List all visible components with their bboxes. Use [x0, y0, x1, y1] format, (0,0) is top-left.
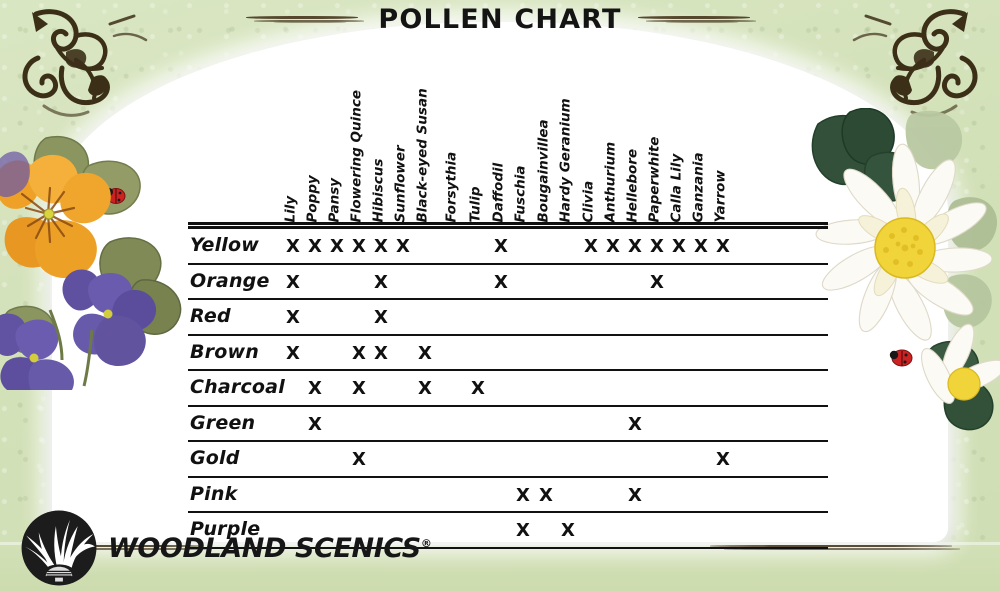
- column-header-fuschia: Fuschia: [515, 165, 529, 222]
- column-header-clivia: Clivia: [583, 180, 597, 222]
- column-header-calla-lily: Calla Lily: [671, 153, 685, 222]
- cell-mark-orange-lily: X: [286, 272, 300, 293]
- pollen-chart-table: LilyPoppyPansyFlowering QuinceHibiscusSu…: [188, 62, 828, 532]
- cell-mark-pink-bougainvillea: X: [539, 485, 553, 506]
- cell-mark-red-lily: X: [286, 307, 300, 328]
- row-label-pink: Pink: [190, 483, 237, 505]
- row-label-brown: Brown: [190, 341, 259, 363]
- column-header-row: LilyPoppyPansyFlowering QuinceHibiscusSu…: [188, 62, 828, 222]
- column-header-lily: Lily: [285, 195, 299, 222]
- row-label-orange: Orange: [190, 270, 270, 292]
- row-label-charcoal: Charcoal: [190, 376, 285, 398]
- cell-mark-red-hibiscus: X: [374, 307, 388, 328]
- row-divider: [188, 369, 828, 371]
- brand-name: WOODLAND SCENICS®: [108, 533, 431, 564]
- cell-mark-yellow-daffodil: X: [494, 236, 508, 257]
- cell-mark-pink-hellebore: X: [628, 485, 642, 506]
- cell-mark-charcoal-black-eyed-susan: X: [418, 378, 432, 399]
- brand-logo: WOODLAND SCENICS®: [20, 509, 431, 587]
- cell-mark-orange-paperwhite: X: [650, 272, 664, 293]
- brush-stroke-icon: [244, 15, 364, 24]
- cell-mark-yellow-hellebore: X: [628, 236, 642, 257]
- cell-mark-gold-yarrow: X: [716, 449, 730, 470]
- column-header-yarrow: Yarrow: [715, 170, 729, 222]
- row-label-yellow: Yellow: [190, 234, 259, 256]
- cell-mark-yellow-poppy: X: [308, 236, 322, 257]
- column-header-ganzania: Ganzania: [693, 152, 707, 222]
- row-divider: [188, 476, 828, 478]
- cell-mark-yellow-flowering-quince: X: [352, 236, 366, 257]
- cell-mark-charcoal-poppy: X: [308, 378, 322, 399]
- cell-mark-orange-hibiscus: X: [374, 272, 388, 293]
- cell-mark-yellow-ganzania: X: [694, 236, 708, 257]
- registered-mark: ®: [421, 537, 432, 550]
- column-header-bougainvillea: Bougainvillea: [538, 119, 552, 222]
- cell-mark-purple-hardy-geranium: X: [561, 520, 575, 541]
- column-header-poppy: Poppy: [307, 175, 321, 222]
- column-header-daffodil: Daffodil: [493, 162, 507, 222]
- cell-mark-purple-fuschia: X: [516, 520, 530, 541]
- brand-name-text: WOODLAND SCENICS: [108, 533, 421, 564]
- table-body: YellowXXXXXXXXXXXXXXOrangeXXXXRedXXBrown…: [188, 222, 828, 553]
- cell-mark-yellow-pansy: X: [330, 236, 344, 257]
- brush-stroke-icon: [636, 15, 756, 24]
- cell-mark-yellow-paperwhite: X: [650, 236, 664, 257]
- title-bar: POLLEN CHART: [0, 4, 1000, 35]
- table-top-rule: [188, 222, 828, 225]
- column-header-forsythia: Forsythia: [446, 151, 460, 222]
- row-divider: [188, 405, 828, 407]
- cell-mark-pink-fuschia: X: [516, 485, 530, 506]
- row-label-green: Green: [190, 412, 255, 434]
- row-divider: [188, 440, 828, 442]
- cell-mark-yellow-hibiscus: X: [374, 236, 388, 257]
- column-header-hibiscus: Hibiscus: [373, 158, 387, 222]
- row-divider: [188, 263, 828, 265]
- cell-mark-green-poppy: X: [308, 414, 322, 435]
- column-header-hardy-geranium: Hardy Geranium: [560, 98, 574, 222]
- page-title: POLLEN CHART: [378, 4, 621, 35]
- cell-mark-yellow-yarrow: X: [716, 236, 730, 257]
- row-divider: [188, 298, 828, 300]
- column-header-sunflower: Sunflower: [395, 145, 409, 222]
- cell-mark-brown-hibiscus: X: [374, 343, 388, 364]
- cell-mark-yellow-sunflower: X: [396, 236, 410, 257]
- table-top-rule: [188, 226, 828, 229]
- row-label-gold: Gold: [190, 447, 240, 469]
- cell-mark-orange-daffodil: X: [494, 272, 508, 293]
- cell-mark-green-hellebore: X: [628, 414, 642, 435]
- column-header-tulip: Tulip: [470, 186, 484, 222]
- cell-mark-charcoal-flowering-quince: X: [352, 378, 366, 399]
- row-divider: [188, 334, 828, 336]
- column-header-hellebore: Hellebore: [627, 148, 641, 222]
- cell-mark-charcoal-tulip: X: [471, 378, 485, 399]
- cell-mark-yellow-clivia: X: [584, 236, 598, 257]
- column-header-anthurium: Anthurium: [605, 141, 619, 222]
- row-label-red: Red: [190, 305, 231, 327]
- cell-mark-yellow-calla-lily: X: [672, 236, 686, 257]
- cell-mark-brown-flowering-quince: X: [352, 343, 366, 364]
- column-header-paperwhite: Paperwhite: [649, 136, 663, 222]
- cell-mark-yellow-anthurium: X: [606, 236, 620, 257]
- cell-mark-yellow-lily: X: [286, 236, 300, 257]
- column-header-pansy: Pansy: [329, 177, 343, 222]
- tree-fan-logo-icon: [20, 509, 98, 587]
- cell-mark-brown-black-eyed-susan: X: [418, 343, 432, 364]
- column-header-black-eyed-susan: Black-eyed Susan: [417, 88, 431, 222]
- column-header-flowering-quince: Flowering Quince: [351, 90, 365, 223]
- cell-mark-gold-flowering-quince: X: [352, 449, 366, 470]
- cell-mark-brown-lily: X: [286, 343, 300, 364]
